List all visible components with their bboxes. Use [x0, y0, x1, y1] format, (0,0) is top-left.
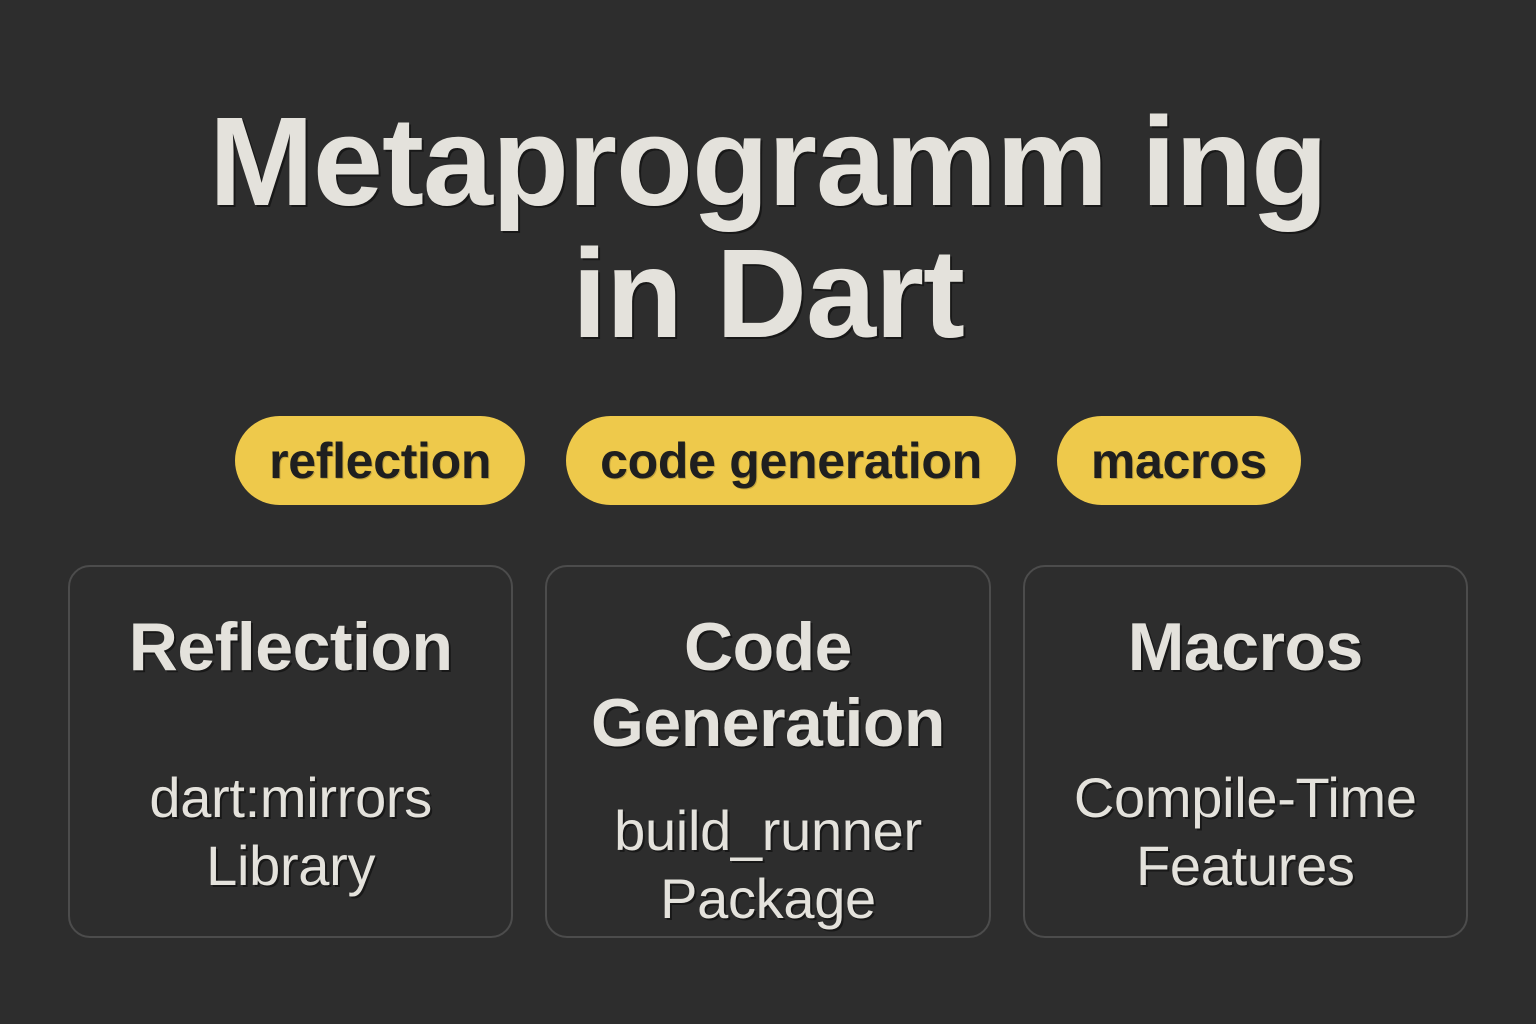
feature-card-title: Reflection [129, 609, 453, 685]
page-title: Metaprogramm ing in Dart [0, 96, 1536, 360]
feature-card-macros[interactable]: Macros Compile-Time Features [1023, 565, 1468, 938]
feature-card-row: Reflection dart:mirrors Library Code Gen… [68, 565, 1468, 938]
tag-pill-macros[interactable]: macros [1057, 416, 1301, 505]
feature-card-title: Macros [1128, 609, 1363, 685]
tag-pill-reflection[interactable]: reflection [235, 416, 525, 505]
feature-card-description: Compile-Time Features [1074, 764, 1417, 906]
tag-pill-row: reflection code generation macros [0, 416, 1536, 505]
feature-card-code-generation[interactable]: Code Generation build_runner Package [545, 565, 990, 938]
title-block: Metaprogramm ing in Dart [0, 96, 1536, 360]
feature-card-description: dart:mirrors Library [149, 764, 432, 906]
feature-card-description: build_runner Package [614, 797, 922, 938]
feature-card-reflection[interactable]: Reflection dart:mirrors Library [68, 565, 513, 938]
tag-pill-code-generation[interactable]: code generation [566, 416, 1016, 505]
slide-root: Metaprogramm ing in Dart reflection code… [0, 0, 1536, 1024]
feature-card-title: Code Generation [565, 609, 970, 761]
